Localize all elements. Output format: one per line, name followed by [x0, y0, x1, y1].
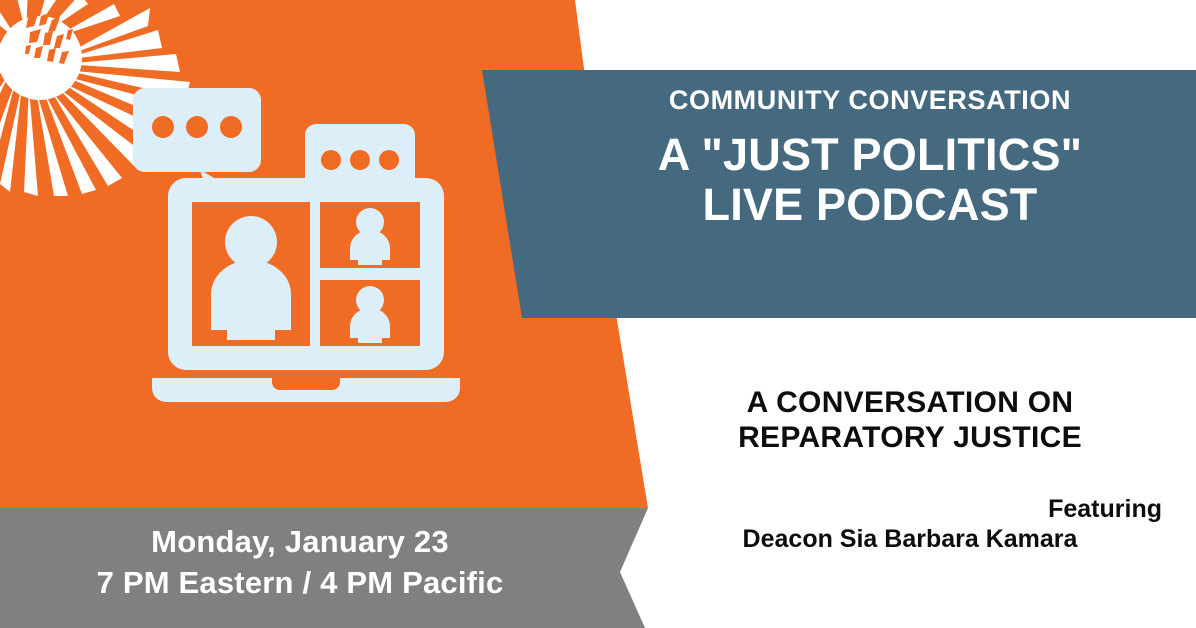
- speech-bubble-right-dots: [321, 150, 399, 170]
- headline-line-2: LIVE PODCAST: [560, 180, 1180, 230]
- headline-line-1: A "JUST POLITICS": [560, 130, 1180, 180]
- teal-banner-text: COMMUNITY CONVERSATION A "JUST POLITICS"…: [560, 86, 1180, 230]
- speech-bubble-left-dots: [152, 116, 242, 138]
- event-details: A CONVERSATION ON REPARATORY JUSTICE Fea…: [650, 385, 1170, 555]
- event-time: 7 PM Eastern / 4 PM Pacific: [0, 563, 600, 604]
- laptop-icon: [152, 178, 460, 402]
- event-date: Monday, January 23: [0, 522, 600, 563]
- promo-poster: COMMUNITY CONVERSATION A "JUST POLITICS"…: [0, 0, 1196, 628]
- laptop-base: [152, 378, 460, 402]
- video-call-laptop-illustration: [0, 0, 480, 420]
- page-title: A "JUST POLITICS" LIVE PODCAST: [560, 130, 1180, 231]
- date-time-banner: Monday, January 23 7 PM Eastern / 4 PM P…: [0, 522, 600, 604]
- featuring-label: Featuring: [650, 494, 1170, 525]
- subtitle-line-1: A CONVERSATION ON: [650, 385, 1170, 420]
- featuring-speaker-name: Deacon Sia Barbara Kamara: [650, 524, 1170, 555]
- featuring-block: Featuring Deacon Sia Barbara Kamara: [650, 494, 1170, 555]
- subtitle-line-2: REPARATORY JUSTICE: [650, 420, 1170, 455]
- eyebrow-label: COMMUNITY CONVERSATION: [560, 86, 1180, 116]
- event-subtitle: A CONVERSATION ON REPARATORY JUSTICE: [650, 385, 1170, 456]
